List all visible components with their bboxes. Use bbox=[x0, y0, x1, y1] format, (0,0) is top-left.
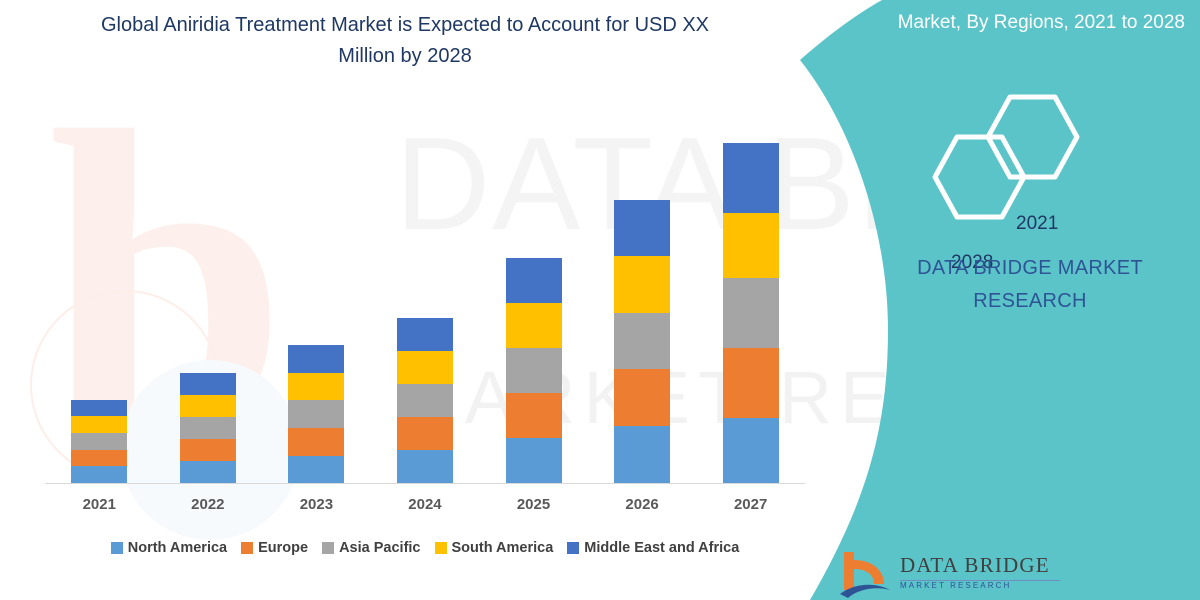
bar-segment bbox=[71, 466, 127, 483]
logo-main-text: DATA BRIDGE bbox=[900, 553, 1130, 578]
bar-segment bbox=[614, 200, 670, 256]
hexagon-label-2021: 2021 bbox=[1016, 213, 1058, 235]
x-axis-tick-label: 2024 bbox=[371, 496, 479, 524]
legend-item: South America bbox=[435, 540, 554, 556]
bar-segment bbox=[180, 439, 236, 461]
bar-segment bbox=[506, 348, 562, 393]
bar-segment bbox=[397, 450, 453, 483]
bar-column bbox=[480, 258, 588, 483]
x-axis-tick-label: 2027 bbox=[697, 496, 805, 524]
bar-column bbox=[697, 143, 805, 483]
logo-text: DATA BRIDGE MARKET RESEARCH bbox=[900, 553, 1130, 590]
bar-segment bbox=[288, 345, 344, 373]
x-axis-tick-label: 2025 bbox=[480, 496, 588, 524]
stacked-bar bbox=[288, 345, 344, 483]
bar-segment bbox=[614, 426, 670, 483]
bar-segment bbox=[723, 143, 779, 213]
stacked-bar bbox=[397, 318, 453, 483]
brand-title: DATA BRIDGE MARKET RESEARCH bbox=[875, 252, 1185, 318]
bar-segment bbox=[288, 428, 344, 456]
bar-segment bbox=[723, 213, 779, 278]
logo-sub-text: MARKET RESEARCH bbox=[900, 581, 1130, 590]
bar-column bbox=[45, 400, 153, 483]
legend-label: Asia Pacific bbox=[339, 540, 420, 556]
legend-label: Europe bbox=[258, 540, 308, 556]
legend-swatch bbox=[567, 542, 579, 554]
x-axis-tick-label: 2021 bbox=[45, 496, 153, 524]
bar-segment bbox=[71, 416, 127, 433]
bar-segment bbox=[180, 373, 236, 395]
bar-segment bbox=[614, 369, 670, 426]
hexagon-group: 2021 2028 bbox=[915, 85, 1115, 225]
bar-segment bbox=[723, 348, 779, 418]
stacked-bar bbox=[723, 143, 779, 483]
legend-item: Middle East and Africa bbox=[567, 540, 739, 556]
bar-segment bbox=[71, 450, 127, 466]
legend-item: Asia Pacific bbox=[322, 540, 420, 556]
bar-column bbox=[588, 200, 696, 483]
x-axis-tick-label: 2022 bbox=[154, 496, 262, 524]
stacked-bar bbox=[180, 373, 236, 483]
bar-segment bbox=[180, 395, 236, 417]
bar-segment bbox=[397, 318, 453, 351]
stacked-bar-group bbox=[45, 110, 805, 483]
bar-segment bbox=[506, 258, 562, 303]
bar-segment bbox=[506, 303, 562, 348]
legend-item: Europe bbox=[241, 540, 308, 556]
bar-segment bbox=[180, 461, 236, 483]
bar-segment bbox=[180, 417, 236, 439]
screenshot-root: b DATA BRIDGE MARKET RESEARCH Global Ani… bbox=[0, 0, 1200, 600]
x-axis-tick-label: 2023 bbox=[262, 496, 370, 524]
bar-segment bbox=[71, 400, 127, 416]
bar-column bbox=[154, 373, 262, 483]
bar-segment bbox=[288, 456, 344, 483]
x-axis-labels: 2021202220232024202520262027 bbox=[45, 496, 805, 524]
bar-segment bbox=[397, 417, 453, 450]
chart-legend: North AmericaEuropeAsia PacificSouth Ame… bbox=[45, 540, 805, 556]
legend-swatch bbox=[435, 542, 447, 554]
logo-divider bbox=[900, 580, 1060, 581]
bar-segment bbox=[397, 384, 453, 417]
x-axis-tick-label: 2026 bbox=[588, 496, 696, 524]
legend-swatch bbox=[322, 542, 334, 554]
bar-segment bbox=[506, 393, 562, 438]
stacked-bar bbox=[506, 258, 562, 483]
stacked-bar bbox=[71, 400, 127, 483]
legend-item: North America bbox=[111, 540, 227, 556]
panel-heading: Market, By Regions, 2021 to 2028 bbox=[855, 8, 1185, 37]
legend-label: North America bbox=[128, 540, 227, 556]
logo-mark-icon bbox=[838, 550, 898, 600]
bar-column bbox=[371, 318, 479, 483]
chart-plot-area: 2021202220232024202520262027 North Ameri… bbox=[0, 0, 830, 600]
bar-segment bbox=[288, 400, 344, 428]
stacked-bar bbox=[614, 200, 670, 483]
x-axis-line bbox=[45, 483, 805, 484]
company-logo: DATA BRIDGE MARKET RESEARCH bbox=[838, 550, 1138, 600]
legend-label: South America bbox=[452, 540, 554, 556]
bar-segment bbox=[723, 418, 779, 483]
bar-segment bbox=[723, 278, 779, 348]
legend-swatch bbox=[111, 542, 123, 554]
bar-segment bbox=[614, 313, 670, 369]
legend-label: Middle East and Africa bbox=[584, 540, 739, 556]
bar-segment bbox=[506, 438, 562, 483]
bar-segment bbox=[71, 433, 127, 450]
bar-segment bbox=[397, 351, 453, 384]
legend-swatch bbox=[241, 542, 253, 554]
bar-segment bbox=[614, 256, 670, 313]
bar-segment bbox=[288, 373, 344, 400]
bar-column bbox=[262, 345, 370, 483]
